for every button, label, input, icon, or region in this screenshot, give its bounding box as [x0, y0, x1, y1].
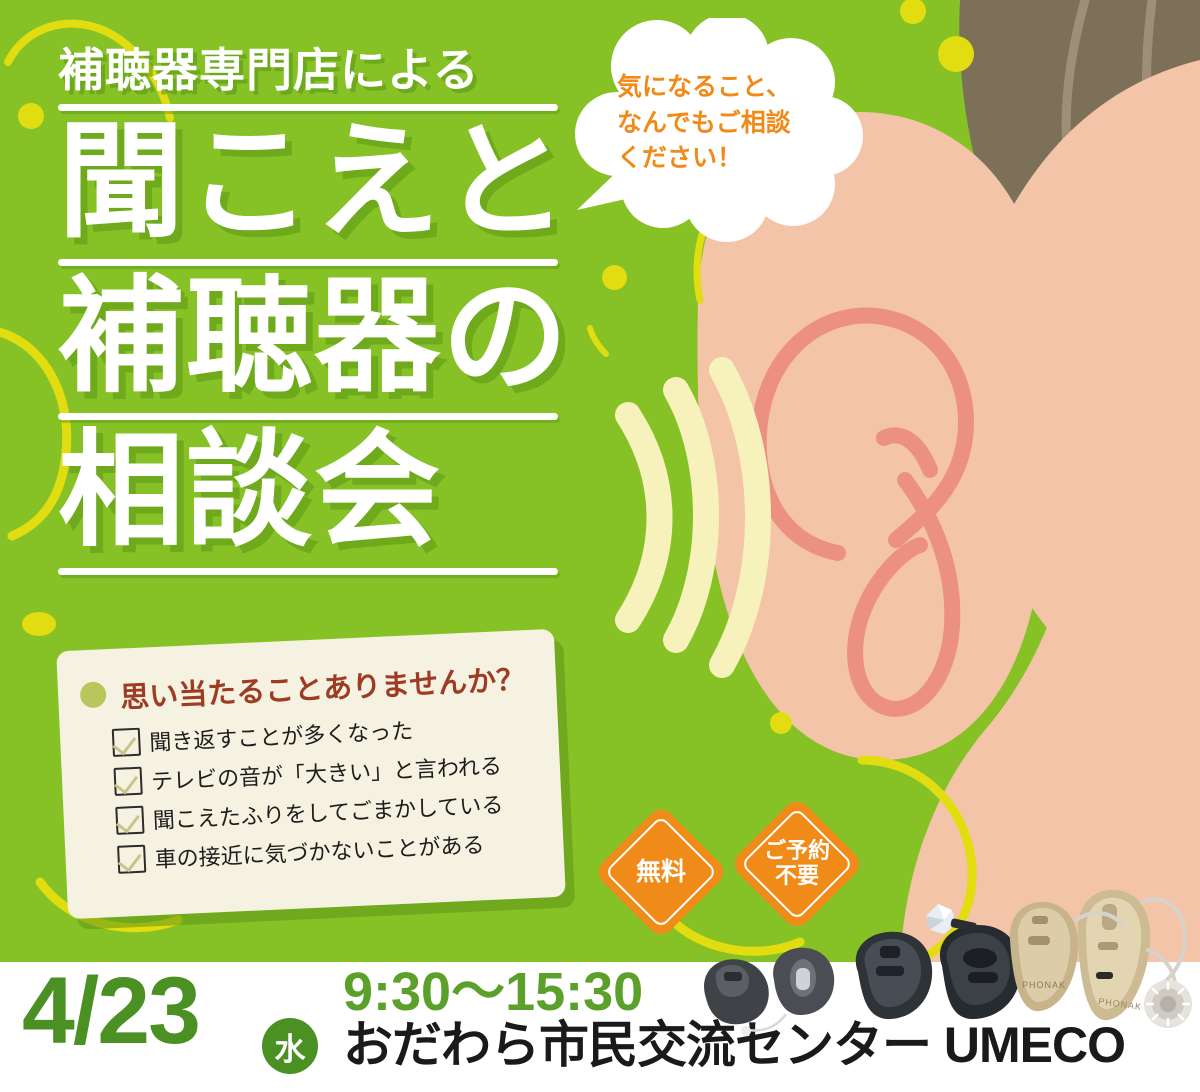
hearing-aid-devices: PHONAK PHONAK — [690, 880, 1200, 1045]
headline-rule-4 — [58, 568, 558, 575]
list-item-label: 聞き返すことが多くなった — [149, 713, 414, 757]
svg-text:PHONAK: PHONAK — [1022, 980, 1066, 990]
headline-block: 補聴器専門店による 聞こえと 補聴器の 相談会 — [58, 46, 558, 579]
checkbox-icon[interactable] — [115, 806, 144, 835]
speech-bubble: 気になること、 なんでもご相談 ください！ — [565, 18, 865, 248]
headline-rule-1 — [58, 104, 558, 111]
event-time: 9:30〜15:30 — [343, 965, 643, 1019]
headline-line-1: 聞こえと — [58, 115, 558, 249]
checkbox-icon[interactable] — [117, 845, 146, 874]
bubble-line-3: ください！ — [617, 141, 837, 177]
bubble-line-1: 気になること、 — [617, 70, 837, 106]
list-item-label: 車の接近に気づかないことがある — [154, 827, 485, 874]
checklist-title: 思い当たることありませんか？ — [119, 656, 526, 716]
headline-line-2: 補聴器の — [58, 270, 558, 404]
green-background: 補聴器専門店による 聞こえと 補聴器の 相談会 — [0, 0, 1200, 962]
event-date: 4/23 — [22, 964, 199, 1059]
checkbox-icon[interactable] — [114, 767, 143, 796]
poster-root: 補聴器専門店による 聞こえと 補聴器の 相談会 — [0, 0, 1200, 1092]
speech-bubble-text: 気になること、 なんでもご相談 ください！ — [617, 70, 837, 177]
day-of-week-badge: 水 — [262, 1018, 318, 1074]
card-punch-hole-icon — [80, 681, 107, 708]
bubble-line-2: なんでもご相談 — [617, 106, 837, 142]
headline-kicker: 補聴器専門店による — [58, 46, 558, 94]
checklist: 聞き返すことが多くなった テレビの音が「大きい」と言われる 聞こえたふりをしてご… — [112, 707, 559, 883]
headline-rule-3 — [58, 413, 558, 420]
checklist-card: 思い当たることありませんか？ 聞き返すことが多くなった テレビの音が「大きい」と… — [56, 629, 566, 919]
headline-rule-2 — [58, 259, 558, 266]
headline-line-3: 相談会 — [58, 424, 558, 558]
checkbox-icon[interactable] — [112, 728, 141, 757]
